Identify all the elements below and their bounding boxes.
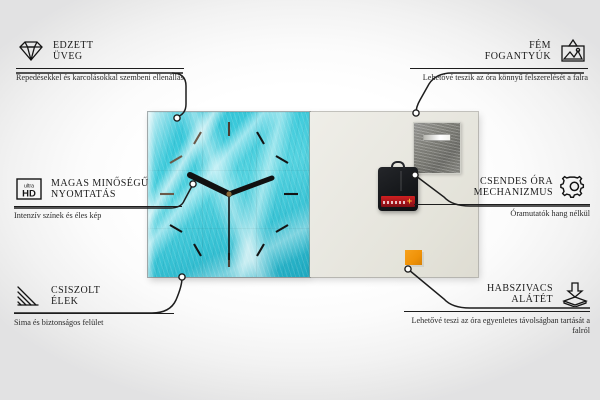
callout-description: Intenzív színek és éles kép [14,211,182,221]
picture-hanger-icon [558,38,588,64]
polished-edges-icon [14,283,44,309]
callout-description: Repedésekkel és karcolásokkal szembeni e… [16,73,184,83]
mechanism-seam [400,171,402,191]
mechanism-hook [391,161,405,169]
callout-metal-handles: FÉM FOGANTYÚK Lehetővé teszik az óra kön… [410,38,588,83]
callout-title-2: ALÁTÉT [487,294,553,306]
callout-title-2: ÜVEG [53,51,93,63]
callout-rule [14,313,174,314]
callout-high-quality-print: ultra HD MAGAS MINŐSÉGŰ NYOMTATÁS Intenz… [14,176,182,221]
callout-title: EDZETT [53,40,93,52]
callout-title-2: FOGANTYÚK [485,51,551,63]
callout-polished-edges: CSISZOLT ÉLEK Sima és biztonságos felüle… [14,283,174,328]
svg-text:HD: HD [22,189,36,200]
callout-foam-pad: HABSZIVACS ALÁTÉT Lehetővé teszi az óra … [404,281,590,336]
callout-description: Lehetővé teszi az óra egyenletes távolsá… [404,316,590,336]
callout-title-2: MECHANIZMUS [474,187,553,199]
diamond-icon [16,38,46,64]
callout-title: MAGAS MINŐSÉGŰ [51,178,149,190]
callout-silent-mechanism: CSENDES ÓRA MECHANIZMUS Óramutatók hang … [414,174,590,219]
callout-rule [410,68,588,69]
callout-title: CSISZOLT [51,285,100,297]
metal-hanger-plate [413,122,461,174]
battery-label: + [381,196,415,207]
infographic-canvas: + [0,0,600,400]
callout-rule [414,204,590,205]
hanger-slot [423,134,451,141]
callout-title-2: NYOMTATÁS [51,189,149,201]
callout-rule [16,68,184,69]
callout-rule [14,206,182,207]
gear-icon [560,174,590,200]
battery-plus-icon: + [406,198,413,205]
clock-mechanism: + [378,167,418,211]
callout-description: Óramutatók hang nélkül [414,209,590,219]
callout-title-2: ÉLEK [51,296,100,308]
callout-description: Lehetővé teszik az óra könnyű felszerelé… [410,73,588,83]
callout-tempered-glass: EDZETT ÜVEG Repedésekkel és karcolásokka… [16,38,184,83]
clock-hands [190,175,272,260]
foam-pad-icon [560,281,590,307]
callout-title: CSENDES ÓRA [474,176,553,188]
callout-title: HABSZIVACS [487,283,553,295]
foam-spacer-pad [405,250,422,265]
callout-rule [404,311,590,312]
callout-title: FÉM [485,40,551,52]
ultra-hd-icon: ultra HD [14,176,44,202]
callout-description: Sima és biztonságos felület [14,318,174,328]
